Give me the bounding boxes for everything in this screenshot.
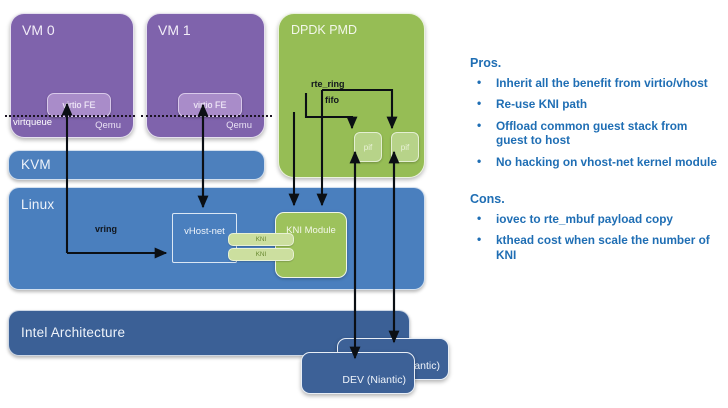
bullet-icon: • xyxy=(477,154,481,169)
bullet-icon: • xyxy=(477,211,481,226)
dev-niantic-front-label: DEV (Niantic) xyxy=(342,374,406,386)
cons-item: • iovec to rte_mbuf payload copy xyxy=(470,212,722,226)
kni-pipe-1: KNI xyxy=(228,248,294,261)
dpdk-port-0: pif xyxy=(354,132,382,162)
notes-spacer xyxy=(470,176,722,192)
bullet-icon: • xyxy=(477,118,481,133)
pros-item-text: Offload common guest stack from guest to… xyxy=(496,119,687,147)
dev-niantic-front: DEV (Niantic) xyxy=(301,352,415,394)
vm-1-virtio-fe: virtio FE xyxy=(178,93,242,117)
pros-item: • No hacking on vhost-net kernel module xyxy=(470,155,722,169)
virtqueue-divider-vm1 xyxy=(141,115,272,117)
rte-ring-label: rte_ring xyxy=(311,79,345,89)
kni-pipe-0: KNI xyxy=(228,233,294,246)
notes-panel: Pros. • Inherit all the benefit from vir… xyxy=(470,56,722,269)
pros-item-text: Re-use KNI path xyxy=(496,97,587,111)
cons-list: • iovec to rte_mbuf payload copy • kthea… xyxy=(470,212,722,262)
dpdk-port-1: pif xyxy=(391,132,419,162)
fifo-label: fifo xyxy=(325,95,339,105)
pros-item-text: Inherit all the benefit from virtio/vhos… xyxy=(496,76,708,90)
pros-item: • Offload common guest stack from guest … xyxy=(470,119,722,148)
pros-item-text: No hacking on vhost-net kernel module xyxy=(496,155,717,169)
pros-list: • Inherit all the benefit from virtio/vh… xyxy=(470,76,722,169)
pros-heading: Pros. xyxy=(470,56,722,70)
vm-0-virtio-fe: virtio FE xyxy=(47,93,111,117)
diagram-canvas: KVM Linux Intel Architecture VM 0 virtio… xyxy=(0,0,728,408)
pros-item: • Re-use KNI path xyxy=(470,97,722,111)
dpdk-pmd-box: DPDK PMD pif pif xyxy=(278,13,425,178)
virtqueue-label: virtqueue xyxy=(13,117,52,128)
pros-item: • Inherit all the benefit from virtio/vh… xyxy=(470,76,722,90)
bullet-icon: • xyxy=(477,232,481,247)
vm-0-title: VM 0 xyxy=(22,22,55,38)
vm-1-box: VM 1 virtio FE Qemu xyxy=(146,13,265,138)
cons-heading: Cons. xyxy=(470,192,722,206)
vring-label: vring xyxy=(95,224,117,234)
band-kvm: KVM xyxy=(8,150,265,180)
vhost-net-label: vHost-net xyxy=(173,226,236,237)
band-linux-label: Linux xyxy=(21,197,54,212)
vm-1-title: VM 1 xyxy=(158,22,191,38)
vm-0-qemu-label: Qemu xyxy=(95,120,121,131)
vm-1-qemu-label: Qemu xyxy=(226,120,252,131)
dpdk-pmd-title: DPDK PMD xyxy=(291,23,357,37)
cons-item-text: kthead cost when scale the number of KNI xyxy=(496,233,710,261)
cons-item: • kthead cost when scale the number of K… xyxy=(470,233,722,262)
bullet-icon: • xyxy=(477,75,481,90)
band-kvm-label: KVM xyxy=(21,157,51,172)
bullet-icon: • xyxy=(477,96,481,111)
cons-item-text: iovec to rte_mbuf payload copy xyxy=(496,212,673,226)
band-intel-architecture-label: Intel Architecture xyxy=(21,325,125,340)
